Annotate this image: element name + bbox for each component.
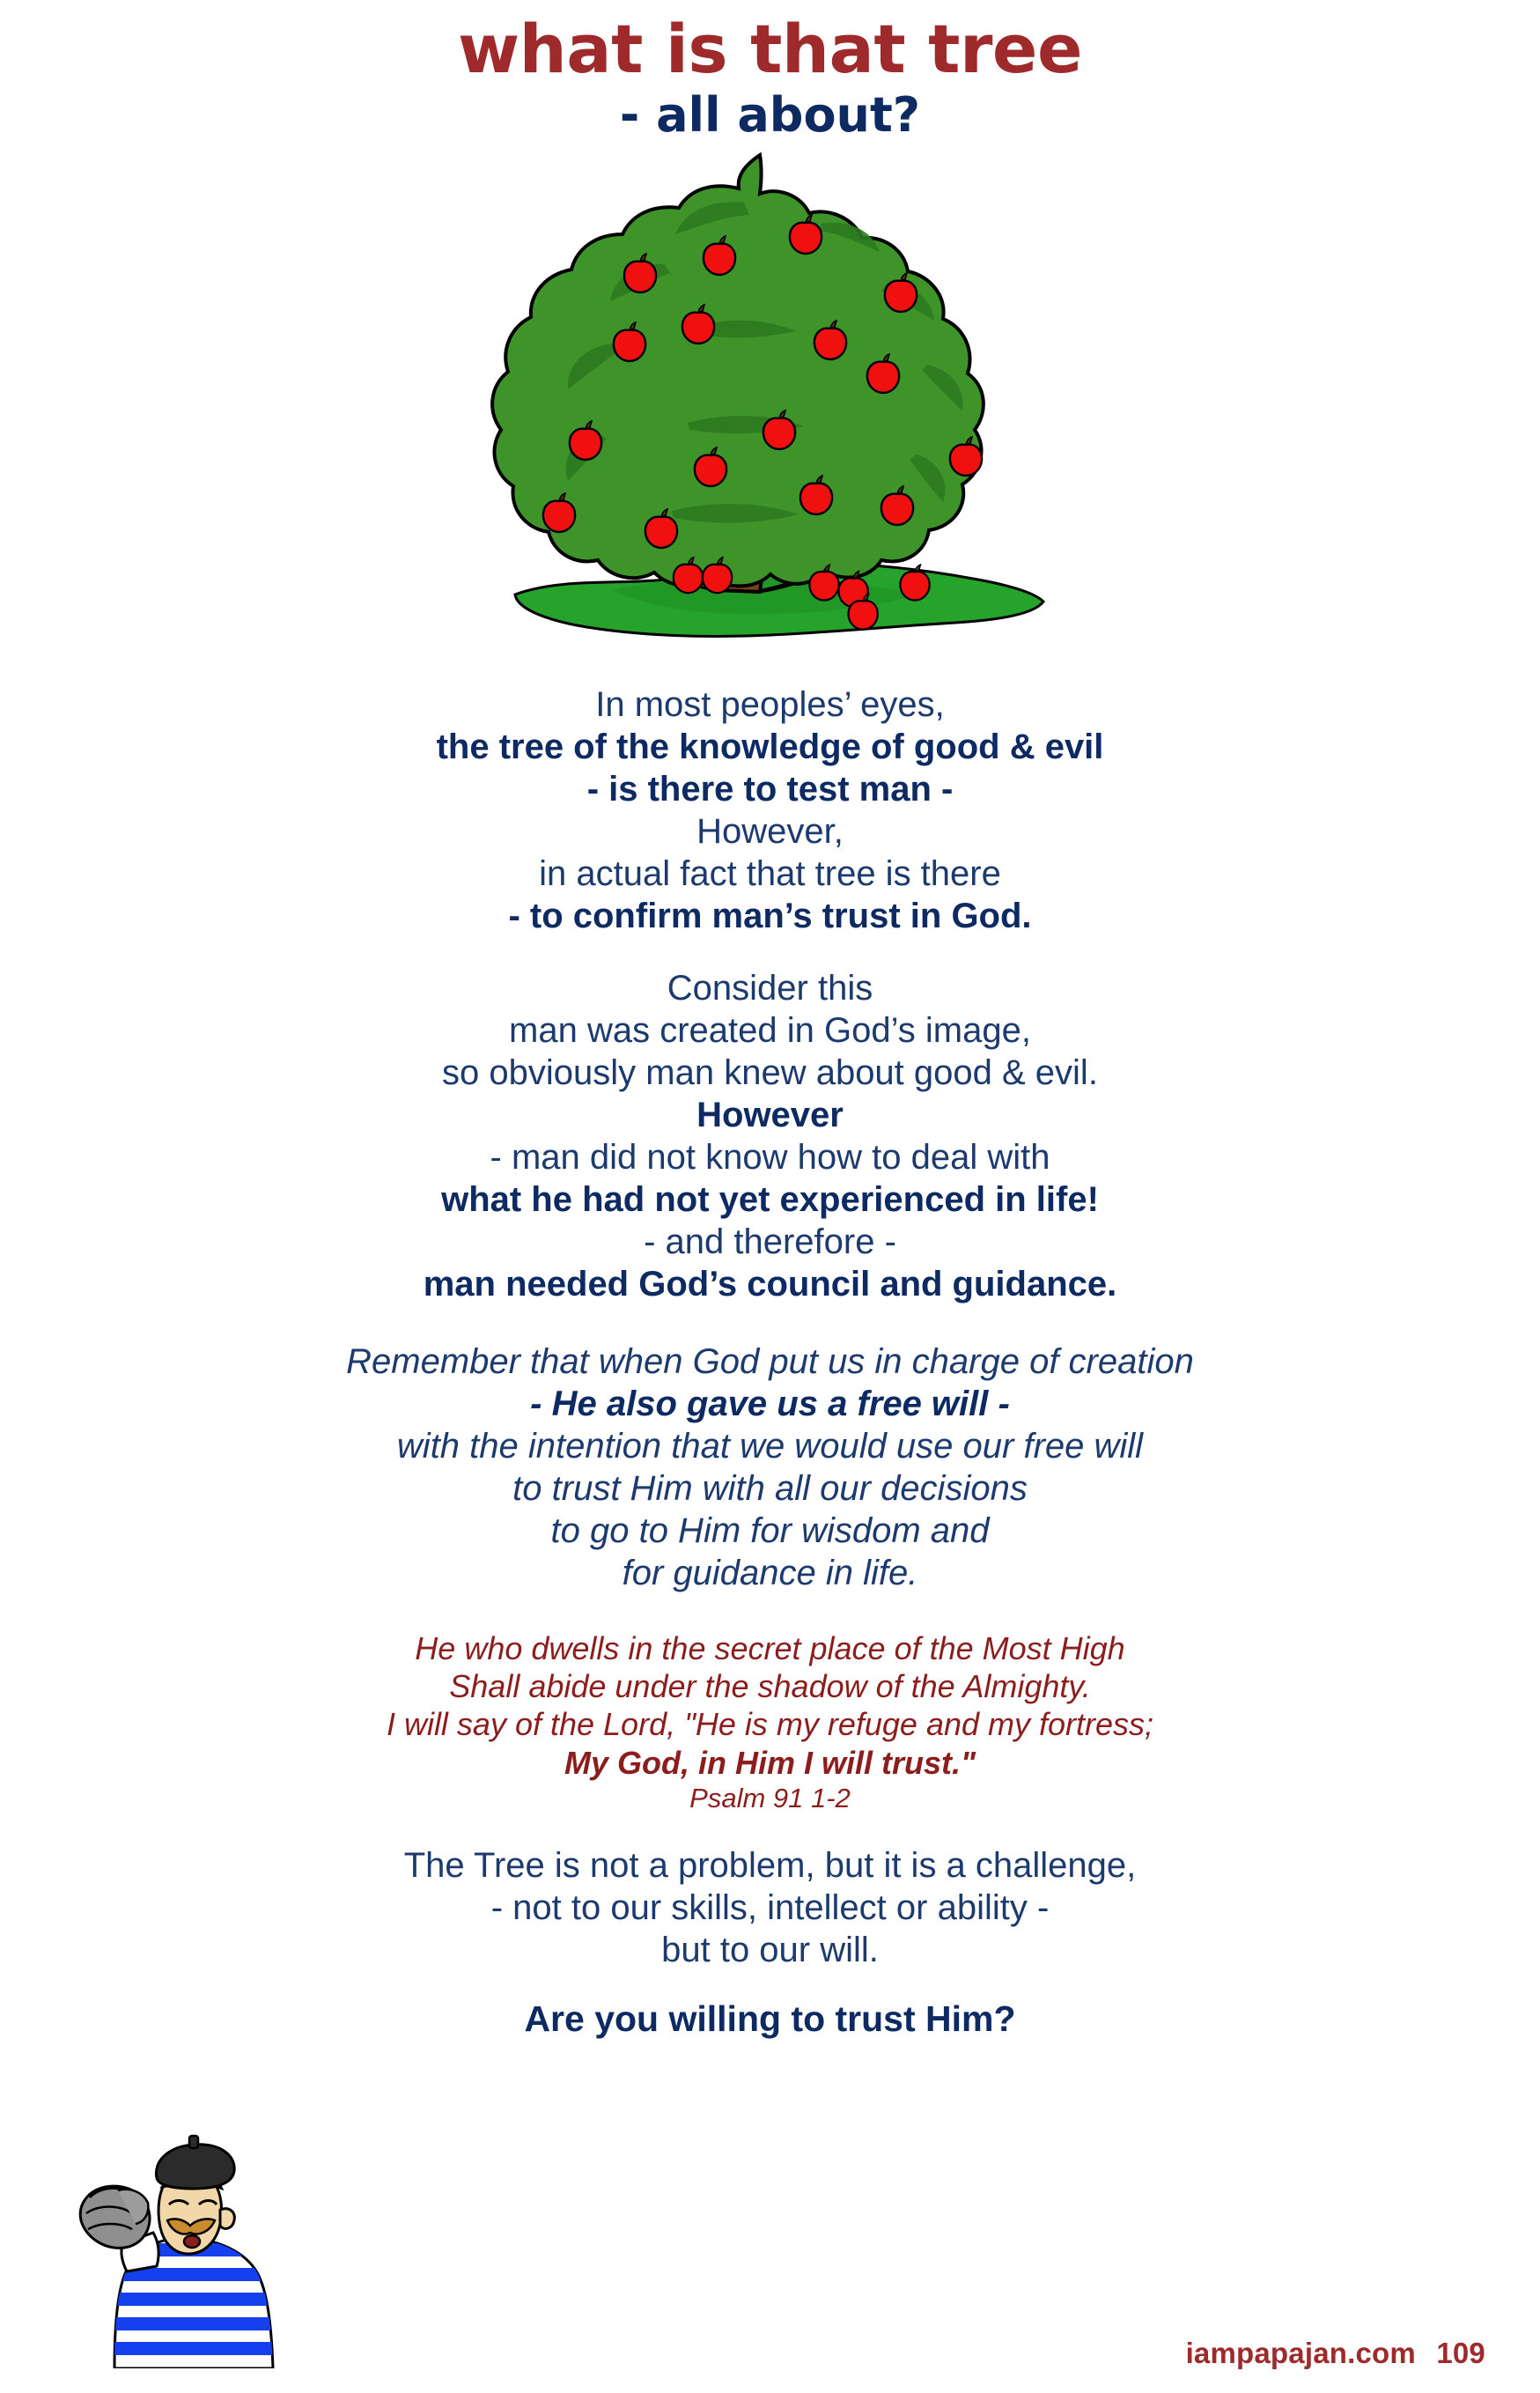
verse-line: He who dwells in the secret place of the…: [0, 1629, 1540, 1667]
verse-line: My God, in Him I will trust.": [0, 1744, 1540, 1782]
line: In most peoples’ eyes,: [0, 683, 1540, 726]
line: - and therefore -: [0, 1221, 1540, 1263]
line: with the intention that we would use our…: [0, 1425, 1540, 1467]
verse-reference: Psalm 91 1-2: [0, 1782, 1540, 1814]
line: - to confirm man’s trust in God.: [0, 895, 1540, 937]
line: The Tree is not a problem, but it is a c…: [0, 1844, 1540, 1887]
illustration-container: [0, 150, 1540, 678]
line: but to our will.: [0, 1929, 1540, 1971]
call-to-action: Are you willing to trust Him?: [0, 1998, 1540, 2041]
line: - is there to test man -: [0, 768, 1540, 810]
line: man was created in God’s image,: [0, 1009, 1540, 1052]
footer-page-number: 109: [1436, 2337, 1485, 2369]
footer: iampapajan.com 109: [1186, 2337, 1485, 2370]
line: man needed God’s council and guidance.: [0, 1263, 1540, 1305]
scripture-quote: He who dwells in the secret place of the…: [0, 1629, 1540, 1814]
page-title: what is that tree: [0, 16, 1540, 83]
text-block-5: The Tree is not a problem, but it is a c…: [0, 1844, 1540, 2041]
line: the tree of the knowledge of good & evil: [0, 726, 1540, 768]
papajan-mascot: [69, 2129, 291, 2368]
text-block-3: Remember that when God put us in charge …: [0, 1341, 1540, 1594]
text-block-2: Consider this man was created in God’s i…: [0, 967, 1540, 1305]
apple-tree-illustration: [480, 150, 1061, 678]
footer-site: iampapajan.com: [1186, 2337, 1416, 2369]
line: to go to Him for wisdom and: [0, 1510, 1540, 1552]
line: what he had not yet experienced in life!: [0, 1178, 1540, 1221]
line: - He also gave us a free will -: [0, 1383, 1540, 1425]
line: Remember that when God put us in charge …: [0, 1341, 1540, 1383]
verse-line: Shall abide under the shadow of the Almi…: [0, 1667, 1540, 1705]
line: in actual fact that tree is there: [0, 853, 1540, 895]
page-header: what is that tree - all about?: [0, 0, 1540, 143]
line: for guidance in life.: [0, 1552, 1540, 1594]
beret-icon: [156, 2136, 234, 2189]
mascot-fist: [80, 2186, 150, 2248]
line: - man did not know how to deal with: [0, 1136, 1540, 1178]
mascot-head: [156, 2136, 234, 2254]
line: - not to our skills, intellect or abilit…: [0, 1887, 1540, 1929]
verse-line: I will say of the Lord, "He is my refuge…: [0, 1705, 1540, 1743]
line: Consider this: [0, 967, 1540, 1009]
page-root: what is that tree - all about?: [0, 0, 1540, 2393]
line: However,: [0, 810, 1540, 853]
page-subtitle: - all about?: [0, 88, 1540, 143]
text-block-1: In most peoples’ eyes, the tree of the k…: [0, 683, 1540, 937]
line: However: [0, 1094, 1540, 1136]
line: to trust Him with all our decisions: [0, 1467, 1540, 1510]
line: so obviously man knew about good & evil.: [0, 1052, 1540, 1094]
